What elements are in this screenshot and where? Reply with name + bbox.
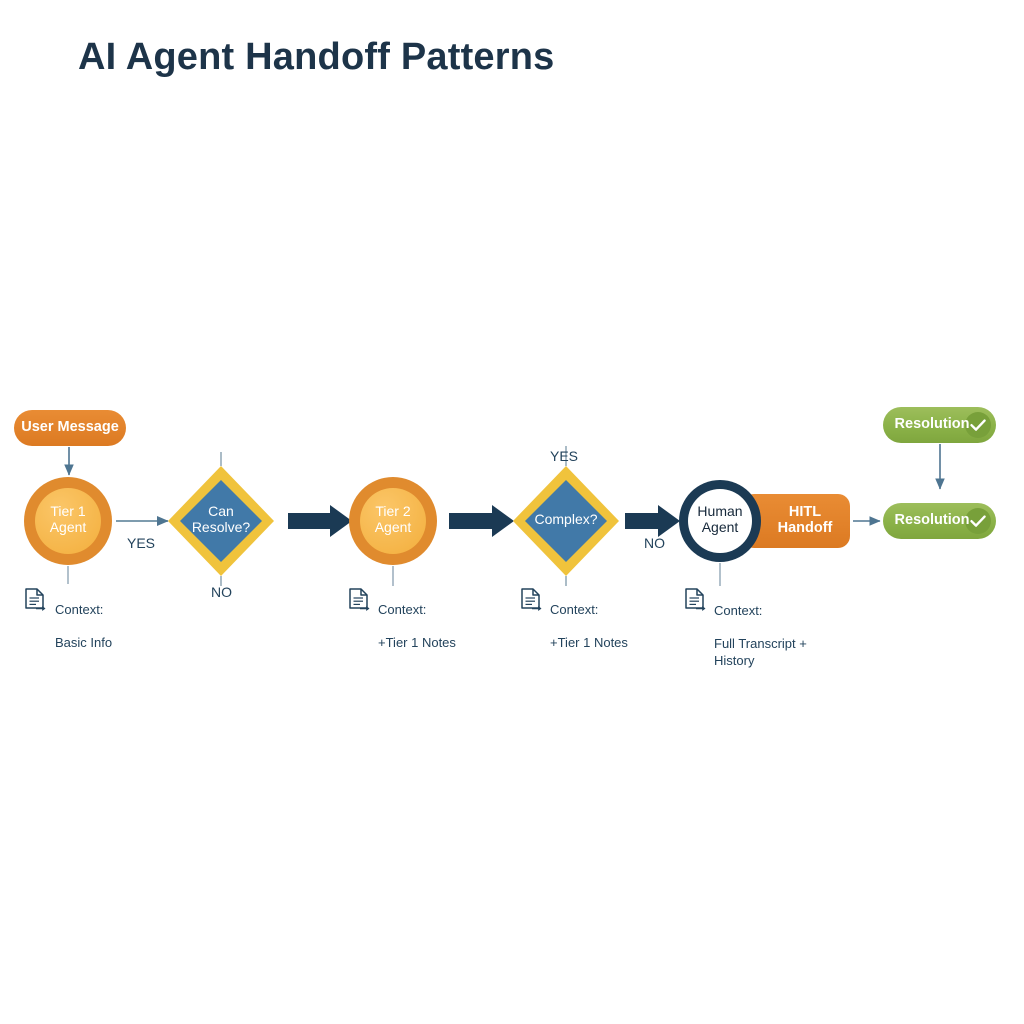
node-complex[interactable] [513,466,619,576]
context-human: Context: Full Transcript + History [714,586,807,669]
context-human-heading: Context: [714,603,762,618]
context-tier1-heading: Context: [55,602,103,617]
context-tier2-value: +Tier 1 Notes [378,635,456,650]
context-human-value: Full Transcript + History [714,636,807,668]
document-arrow-icon [686,589,706,611]
edge-label-no-can-resolve: NO [211,584,232,600]
node-user-message[interactable] [14,410,126,446]
context-tier1-value: Basic Info [55,635,112,650]
check-icon [965,508,991,534]
context-tier1: Context: Basic Info [55,585,112,652]
flow-diagram [0,0,1024,1024]
node-can-resolve[interactable] [168,466,274,576]
edge-label-no-complex: NO [644,535,665,551]
edge-canresolve-to-tier2 [288,505,352,537]
context-complex-value: +Tier 1 Notes [550,635,628,650]
document-arrow-icon [350,589,370,611]
document-arrow-icon [26,589,46,611]
diagram-canvas: AI Agent Handoff Patterns [0,0,1024,1024]
edge-tier2-to-complex [449,505,514,537]
node-tier2-agent[interactable] [349,477,437,565]
context-tier2-heading: Context: [378,602,426,617]
document-arrow-icon [522,589,542,611]
node-resolution-bottom[interactable] [883,503,996,539]
context-complex-heading: Context: [550,602,598,617]
node-resolution-top[interactable] [883,407,996,443]
node-human-agent[interactable] [679,480,761,562]
context-complex: Context: +Tier 1 Notes [550,585,628,652]
context-tier2: Context: +Tier 1 Notes [378,585,456,652]
edge-label-yes-complex: YES [550,448,578,464]
check-icon [965,412,991,438]
edge-complex-to-human [625,505,680,537]
edge-label-yes-tier1: YES [127,535,155,551]
node-tier1-agent[interactable] [24,477,112,565]
